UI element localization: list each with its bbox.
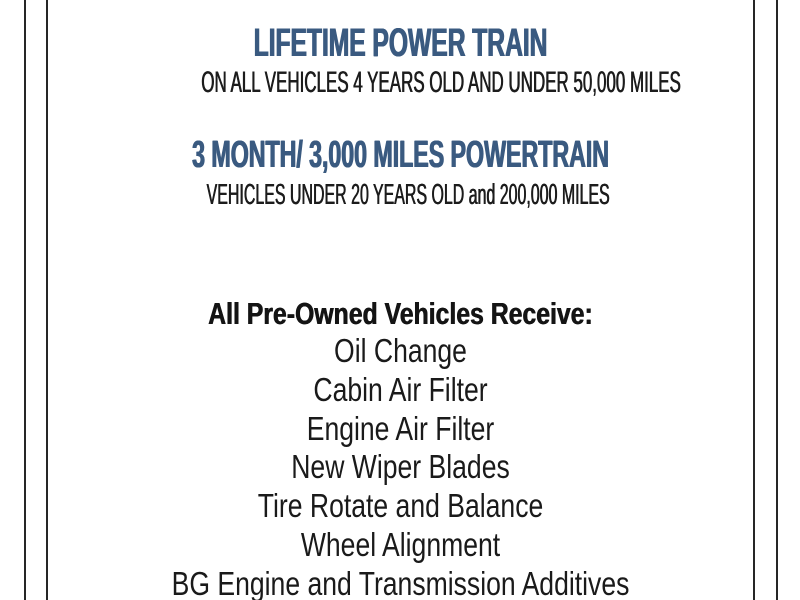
warranty-title: LIFETIME POWER TRAIN <box>182 22 619 64</box>
service-item: Cabin Air Filter <box>117 371 685 410</box>
service-item: BG Engine and Transmission Additives <box>117 565 685 600</box>
warranty-lifetime-powertrain: LIFETIME POWER TRAIN ON ALL VEHICLES 4 Y… <box>48 22 753 99</box>
dealership-warranty-flyer: LIFETIME POWER TRAIN ON ALL VEHICLES 4 Y… <box>0 0 800 600</box>
right-inner-rule <box>753 0 755 600</box>
services-section: All Pre-Owned Vehicles Receive: Oil Chan… <box>48 296 753 600</box>
warranty-subtitle: VEHICLES UNDER 20 YEARS OLD and 200,000 … <box>207 179 595 211</box>
warranty-three-month-powertrain: 3 MONTH/ 3,000 MILES POWERTRAIN VEHICLES… <box>48 134 753 211</box>
flyer-content: LIFETIME POWER TRAIN ON ALL VEHICLES 4 Y… <box>48 0 753 600</box>
service-item: Oil Change <box>117 332 685 371</box>
service-item: Wheel Alignment <box>117 526 685 565</box>
service-item: New Wiper Blades <box>117 448 685 487</box>
warranty-subtitle: ON ALL VEHICLES 4 YEARS OLD AND UNDER 50… <box>201 67 599 99</box>
right-outer-rule <box>776 0 778 600</box>
service-item: Engine Air Filter <box>117 410 685 449</box>
left-outer-rule <box>24 0 26 600</box>
services-heading: All Pre-Owned Vehicles Receive: <box>119 296 683 332</box>
service-item: Tire Rotate and Balance <box>117 487 685 526</box>
warranty-title: 3 MONTH/ 3,000 MILES POWERTRAIN <box>184 134 618 176</box>
